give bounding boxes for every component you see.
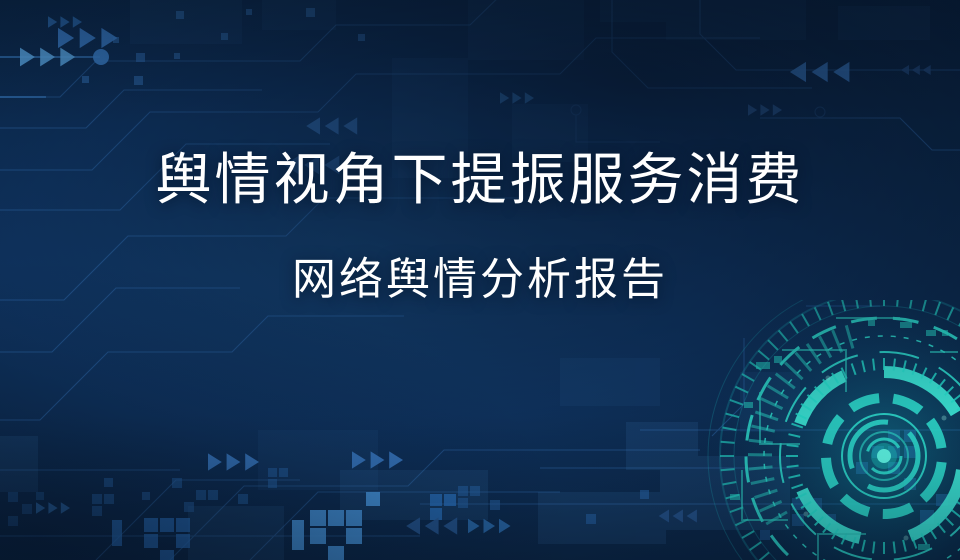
page-title: 舆情视角下提振服务消费 bbox=[0, 150, 960, 210]
page-subtitle: 网络舆情分析报告 bbox=[0, 210, 960, 304]
title-block: 舆情视角下提振服务消费 网络舆情分析报告 bbox=[0, 150, 960, 305]
presentation-slide: 舆情视角下提振服务消费 网络舆情分析报告 bbox=[0, 0, 960, 560]
